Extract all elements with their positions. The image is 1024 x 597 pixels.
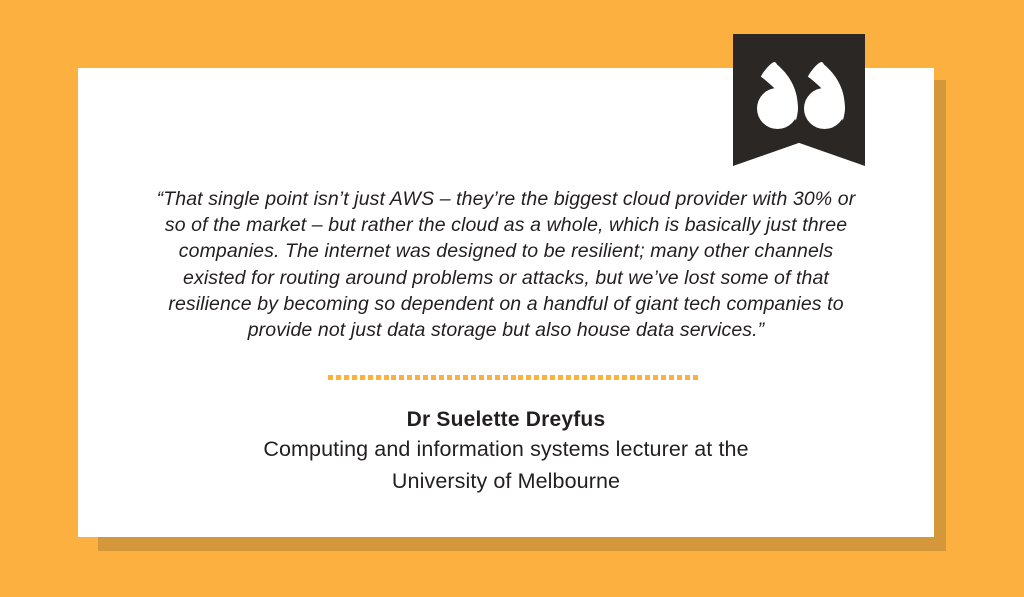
quote-text: “That single point isn’t just AWS – they… xyxy=(78,186,934,343)
divider-dot xyxy=(352,375,357,380)
divider-dot xyxy=(614,375,619,380)
quote-line: companies. The internet was designed to … xyxy=(78,238,934,264)
quote-line: “That single point isn’t just AWS – they… xyxy=(78,186,934,212)
divider-dot xyxy=(534,375,539,380)
divider-dot xyxy=(423,375,428,380)
divider-dot xyxy=(368,375,373,380)
dotted-divider xyxy=(328,375,698,381)
divider-dot xyxy=(384,375,389,380)
divider-dot xyxy=(455,375,460,380)
divider-dot xyxy=(431,375,436,380)
attribution-block: Dr Suelette Dreyfus Computing and inform… xyxy=(78,406,934,497)
divider-dot xyxy=(447,375,452,380)
divider-dot xyxy=(558,375,563,380)
divider-dot xyxy=(590,375,595,380)
author-role: Computing and information systems lectur… xyxy=(78,434,934,497)
quote-line: existed for routing around problems or a… xyxy=(78,265,934,291)
divider-dot xyxy=(669,375,674,380)
divider-dot xyxy=(661,375,666,380)
double-quote-mark-icon xyxy=(733,34,865,166)
divider-dot xyxy=(693,375,698,380)
divider-dot xyxy=(415,375,420,380)
divider-dot xyxy=(606,375,611,380)
divider-dot xyxy=(518,375,523,380)
divider-dot xyxy=(328,375,333,380)
divider-dot xyxy=(376,375,381,380)
author-role-line: University of Melbourne xyxy=(78,466,934,498)
divider-dot xyxy=(677,375,682,380)
quote-card-canvas: “That single point isn’t just AWS – they… xyxy=(0,0,1024,597)
divider-dot xyxy=(653,375,658,380)
divider-dot xyxy=(637,375,642,380)
divider-dot xyxy=(439,375,444,380)
quote-line: so of the market – but rather the cloud … xyxy=(78,212,934,238)
divider-dot xyxy=(391,375,396,380)
divider-dot xyxy=(399,375,404,380)
divider-dot xyxy=(685,375,690,380)
quote-line: resilience by becoming so dependent on a… xyxy=(78,291,934,317)
divider-dot xyxy=(645,375,650,380)
divider-dot xyxy=(407,375,412,380)
divider-dot xyxy=(622,375,627,380)
divider-dot xyxy=(336,375,341,380)
divider-dot xyxy=(550,375,555,380)
divider-dot xyxy=(582,375,587,380)
divider-dot xyxy=(503,375,508,380)
divider-dot xyxy=(487,375,492,380)
author-name: Dr Suelette Dreyfus xyxy=(78,406,934,434)
quote-line: provide not just data storage but also h… xyxy=(78,317,934,343)
divider-dot xyxy=(511,375,516,380)
divider-dot xyxy=(630,375,635,380)
author-role-line: Computing and information systems lectur… xyxy=(78,434,934,466)
divider-dot xyxy=(526,375,531,380)
quote-badge xyxy=(733,34,865,166)
divider-dot xyxy=(566,375,571,380)
divider-dot xyxy=(360,375,365,380)
divider-dot xyxy=(463,375,468,380)
divider-dot xyxy=(479,375,484,380)
divider-dot xyxy=(495,375,500,380)
divider-dot xyxy=(598,375,603,380)
divider-dot xyxy=(574,375,579,380)
divider-dot xyxy=(344,375,349,380)
divider-dot xyxy=(471,375,476,380)
divider-dot xyxy=(542,375,547,380)
